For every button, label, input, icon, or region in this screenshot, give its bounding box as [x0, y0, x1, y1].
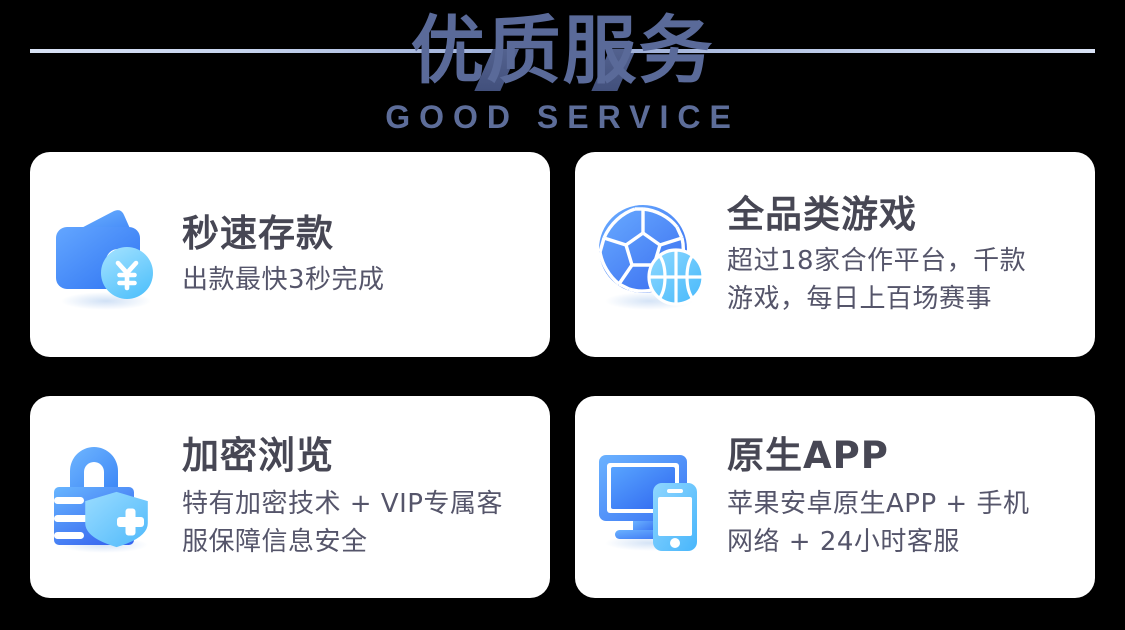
soccer-basketball-icon-svg	[593, 197, 709, 313]
lock-shield-icon-svg	[48, 439, 164, 555]
feature-card-all-category-games[interactable]: 全品类游戏 超过18家合作平台，千款 游戏，每日上百场赛事	[575, 152, 1095, 357]
card-description: 苹果安卓原生APP + 手机 网络 + 24小时客服	[727, 485, 1081, 561]
wallet-yen-icon	[48, 197, 164, 313]
card-description: 出款最快3秒完成	[182, 261, 536, 299]
card-title: 原生APP	[727, 433, 1081, 479]
page-header: 优质服务 GOOD SERVICE	[0, 0, 1125, 145]
card-title: 加密浏览	[182, 433, 536, 479]
monitor-phone-icon	[593, 439, 709, 555]
monitor-phone-icon-svg	[593, 439, 709, 555]
card-title: 秒速存款	[182, 211, 536, 257]
card-title: 全品类游戏	[727, 192, 1081, 238]
feature-card-native-app[interactable]: 原生APP 苹果安卓原生APP + 手机 网络 + 24小时客服	[575, 396, 1095, 598]
page-title: 优质服务	[0, 8, 1125, 94]
card-description: 特有加密技术 + VIP专属客 服保障信息安全	[182, 485, 536, 561]
icon-container	[30, 152, 182, 357]
soccer-basketball-icon	[593, 197, 709, 313]
lock-shield-icon	[48, 439, 164, 555]
card-text: 全品类游戏 超过18家合作平台，千款 游戏，每日上百场赛事	[727, 192, 1095, 318]
page-root: 优质服务 GOOD SERVICE	[0, 0, 1125, 630]
card-description: 超过18家合作平台，千款 游戏，每日上百场赛事	[727, 242, 1081, 318]
card-text: 秒速存款 出款最快3秒完成	[182, 211, 550, 299]
feature-card-encrypted-browsing[interactable]: 加密浏览 特有加密技术 + VIP专属客 服保障信息安全	[30, 396, 550, 598]
card-text: 原生APP 苹果安卓原生APP + 手机 网络 + 24小时客服	[727, 433, 1095, 561]
feature-card-instant-deposit[interactable]: 秒速存款 出款最快3秒完成	[30, 152, 550, 357]
icon-container	[575, 396, 727, 598]
icon-container	[30, 396, 182, 598]
page-subtitle: GOOD SERVICE	[0, 99, 1125, 135]
wallet-yen-icon-svg	[48, 197, 164, 313]
icon-container	[575, 152, 727, 357]
card-text: 加密浏览 特有加密技术 + VIP专属客 服保障信息安全	[182, 433, 550, 561]
